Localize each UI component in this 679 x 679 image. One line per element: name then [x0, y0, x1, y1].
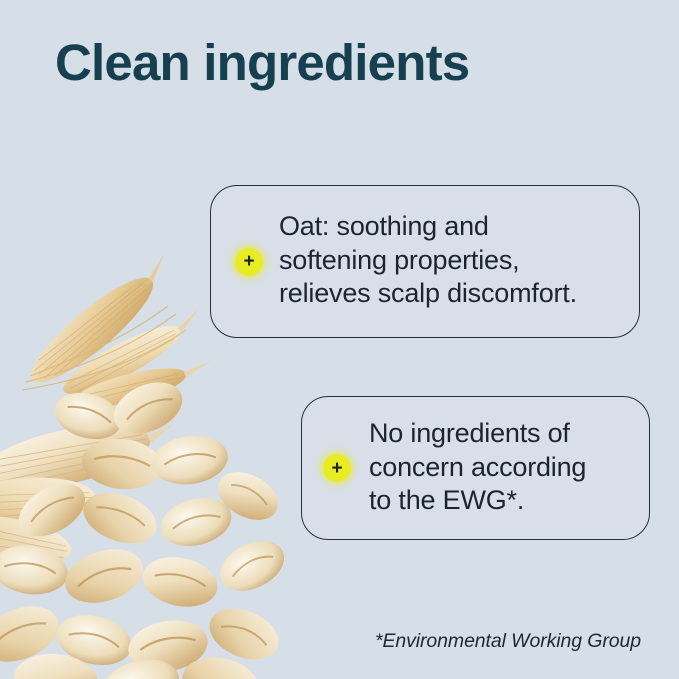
fact-card-ewg-claim: + No ingredients of concern according to… — [301, 396, 650, 540]
plus-icon: + — [235, 248, 263, 276]
page-title: Clean ingredients — [55, 33, 469, 93]
fact-card-oat-benefit: + Oat: soothing and softening properties… — [210, 185, 640, 338]
fact-card-text: Oat: soothing and softening properties, … — [279, 210, 577, 311]
fact-card-text: No ingredients of concern according to t… — [369, 417, 586, 518]
fact-line: Oat: soothing and — [279, 210, 577, 244]
fact-line: to the EWG*. — [369, 484, 586, 518]
footnote-text: *Environmental Working Group — [375, 630, 641, 653]
fact-line: No ingredients of — [369, 417, 586, 451]
fact-line: relieves scalp discomfort. — [279, 277, 577, 311]
plus-icon: + — [323, 454, 351, 482]
fact-line: concern according — [369, 451, 586, 485]
fact-line: softening properties, — [279, 244, 577, 278]
